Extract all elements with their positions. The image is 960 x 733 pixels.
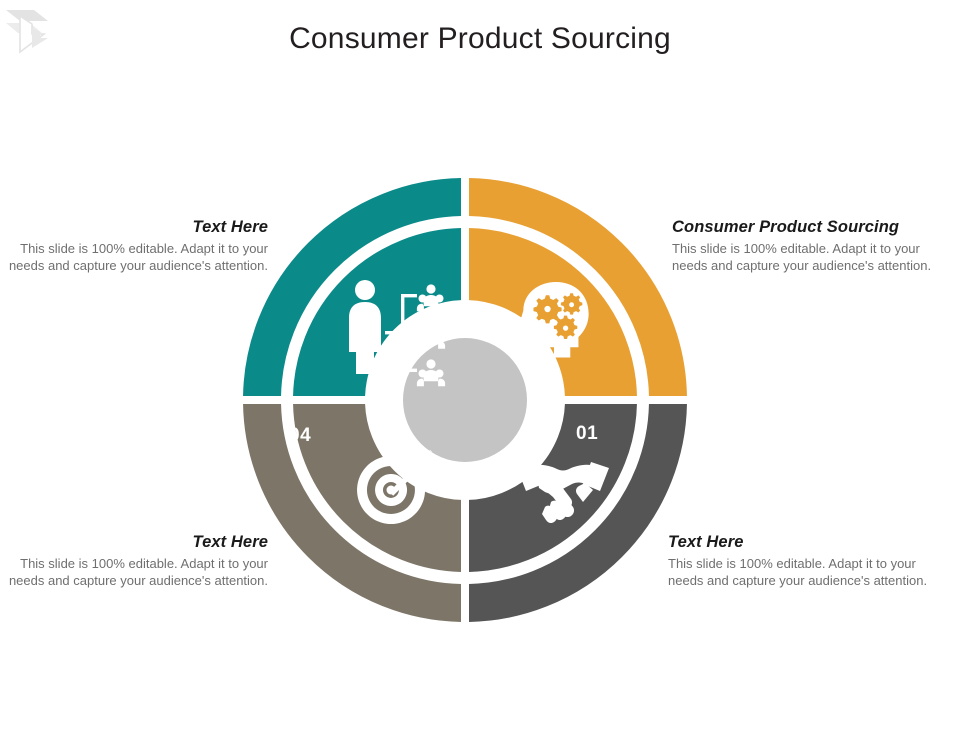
text-block-bottom-right-heading: Text Here xyxy=(668,533,930,552)
center-hub xyxy=(403,338,527,462)
text-block-top-left-body: This slide is 100% editable. Adapt it to… xyxy=(6,240,268,274)
slide-canvas: Consumer Product Sourcing xyxy=(0,0,960,720)
text-block-top-left: Text Here This slide is 100% editable. A… xyxy=(6,218,268,274)
segment-02-number: 02 xyxy=(595,693,617,715)
segment-04-number: 04 xyxy=(289,425,311,447)
circular-quadrant-diagram: 01 02 03 04 xyxy=(243,178,687,622)
segment-03-number: 03 xyxy=(304,711,326,733)
page-title: Consumer Product Sourcing xyxy=(0,22,960,56)
text-block-bottom-right: Text Here This slide is 100% editable. A… xyxy=(668,533,930,589)
text-block-bottom-right-body: This slide is 100% editable. Adapt it to… xyxy=(668,555,930,589)
text-block-top-right: Consumer Product Sourcing This slide is … xyxy=(672,218,934,274)
text-block-bottom-left-heading: Text Here xyxy=(6,533,268,552)
text-block-bottom-left: Text Here This slide is 100% editable. A… xyxy=(6,533,268,589)
text-block-bottom-left-body: This slide is 100% editable. Adapt it to… xyxy=(6,555,268,589)
text-block-top-right-body: This slide is 100% editable. Adapt it to… xyxy=(672,240,934,274)
text-block-top-left-heading: Text Here xyxy=(6,218,268,237)
head-with-gears-icon xyxy=(519,282,588,357)
segment-01-number: 01 xyxy=(576,423,598,445)
text-block-top-right-heading: Consumer Product Sourcing xyxy=(672,218,934,237)
